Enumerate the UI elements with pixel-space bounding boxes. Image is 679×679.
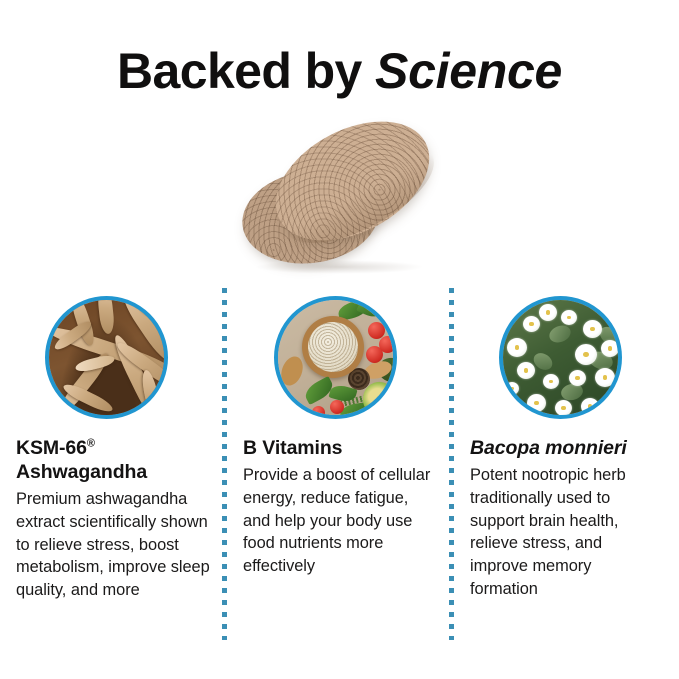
ingredient-column-b-vitamins: B Vitamins Provide a boost of cellular e… [243,296,451,578]
ingredient-column-ksm66: KSM-66®Ashwagandha Premium ashwagandha e… [16,296,224,602]
ingredient-heading: KSM-66®Ashwagandha [16,437,224,485]
tablet-shadow [254,260,424,274]
ingredient-heading-text: KSM-66 [16,437,87,459]
page-title-italic: Science [375,43,562,99]
ingredient-column-bacopa: Bacopa monnieri Potent nootropic herb tr… [470,296,678,601]
ingredient-heading-line2: Ashwagandha [16,461,147,483]
page-title-regular: Backed by [117,43,375,99]
page-title: Backed by Science [0,42,679,100]
quinoa-bowl [302,316,364,378]
ingredient-heading-text: Bacopa monnieri [470,437,627,459]
bacopa-flowers-icon [499,296,622,419]
product-infographic: Backed by Science KSM-66®Ashwagandha Pre… [0,0,679,679]
registered-trademark-symbol: ® [87,438,95,450]
hero-tablets-image [232,118,442,278]
ingredient-description: Provide a boost of cellular energy, redu… [243,464,431,578]
ingredient-heading-text: B Vitamins [243,437,342,459]
ashwagandha-roots-icon [45,296,168,419]
ingredient-description: Premium ashwagandha extract scientifical… [16,488,216,602]
ingredient-description: Potent nootropic herb traditionally used… [470,464,660,601]
b-vitamin-foods-icon [274,296,397,419]
ingredient-heading: B Vitamins [243,437,451,461]
ingredient-heading: Bacopa monnieri [470,437,678,461]
